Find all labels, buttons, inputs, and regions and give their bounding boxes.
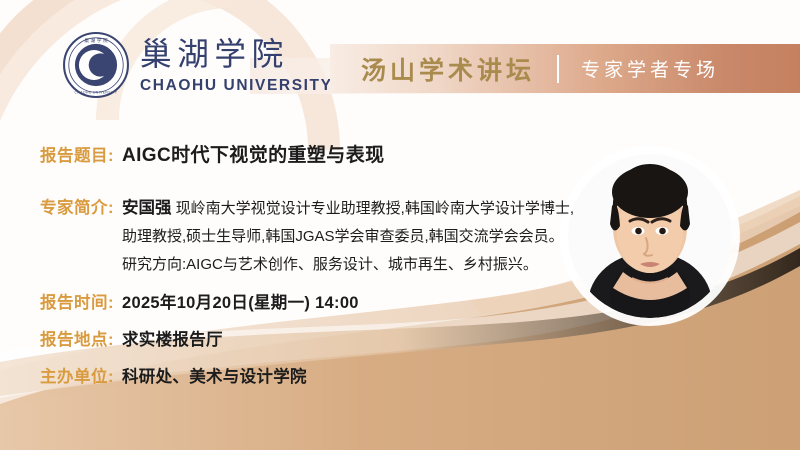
report-title-row: 报告题目: AIGC时代下视觉的重塑与表现 xyxy=(40,140,385,167)
speaker-name: 安国强 xyxy=(122,199,172,217)
speaker-bio-label: 专家简介: xyxy=(40,194,114,222)
report-time-value: 2025年10月20日(星期一) 14:00 xyxy=(122,289,359,313)
speaker-bio-lines: 安国强 现岭南大学视觉设计专业助理教授,韩国岭南大学设计学博士, 助理教授,硕士… xyxy=(122,194,574,279)
report-host-label: 主办单位: xyxy=(40,363,114,387)
bio-line-1-text: 现岭南大学视觉设计专业助理教授,韩国岭南大学设计学博士, xyxy=(172,200,575,217)
report-host-value: 科研处、美术与设计学院 xyxy=(122,363,307,387)
report-place-label: 报告地点: xyxy=(40,326,114,350)
report-time-label: 报告时间: xyxy=(40,289,114,313)
poster-canvas: 巢 湖 学 院 CHAOHU UNIVERSITY 巢湖学院 CHAOHU UN… xyxy=(0,0,800,450)
report-host-row: 主办单位: 科研处、美术与设计学院 xyxy=(40,363,307,387)
report-place-row: 报告地点: 求实楼报告厅 xyxy=(40,326,223,350)
report-title-label: 报告题目: xyxy=(40,142,114,166)
poster-content: 报告题目: AIGC时代下视觉的重塑与表现 专家简介: 安国强 现岭南大学视觉设… xyxy=(0,0,800,450)
report-time-row: 报告时间: 2025年10月20日(星期一) 14:00 xyxy=(40,289,359,313)
speaker-bio-row: 专家简介: 安国强 现岭南大学视觉设计专业助理教授,韩国岭南大学设计学博士, 助… xyxy=(40,194,574,279)
report-title-value: AIGC时代下视觉的重塑与表现 xyxy=(122,140,385,167)
bio-line-1: 安国强 现岭南大学视觉设计专业助理教授,韩国岭南大学设计学博士, xyxy=(122,194,574,223)
report-place-value: 求实楼报告厅 xyxy=(122,326,223,350)
bio-line-3: 研究方向:AIGC与艺术创作、服务设计、城市再生、乡村振兴。 xyxy=(122,251,574,279)
bio-line-2: 助理教授,硕士生导师,韩国JGAS学会审查委员,韩国交流学会会员。 xyxy=(122,223,574,251)
